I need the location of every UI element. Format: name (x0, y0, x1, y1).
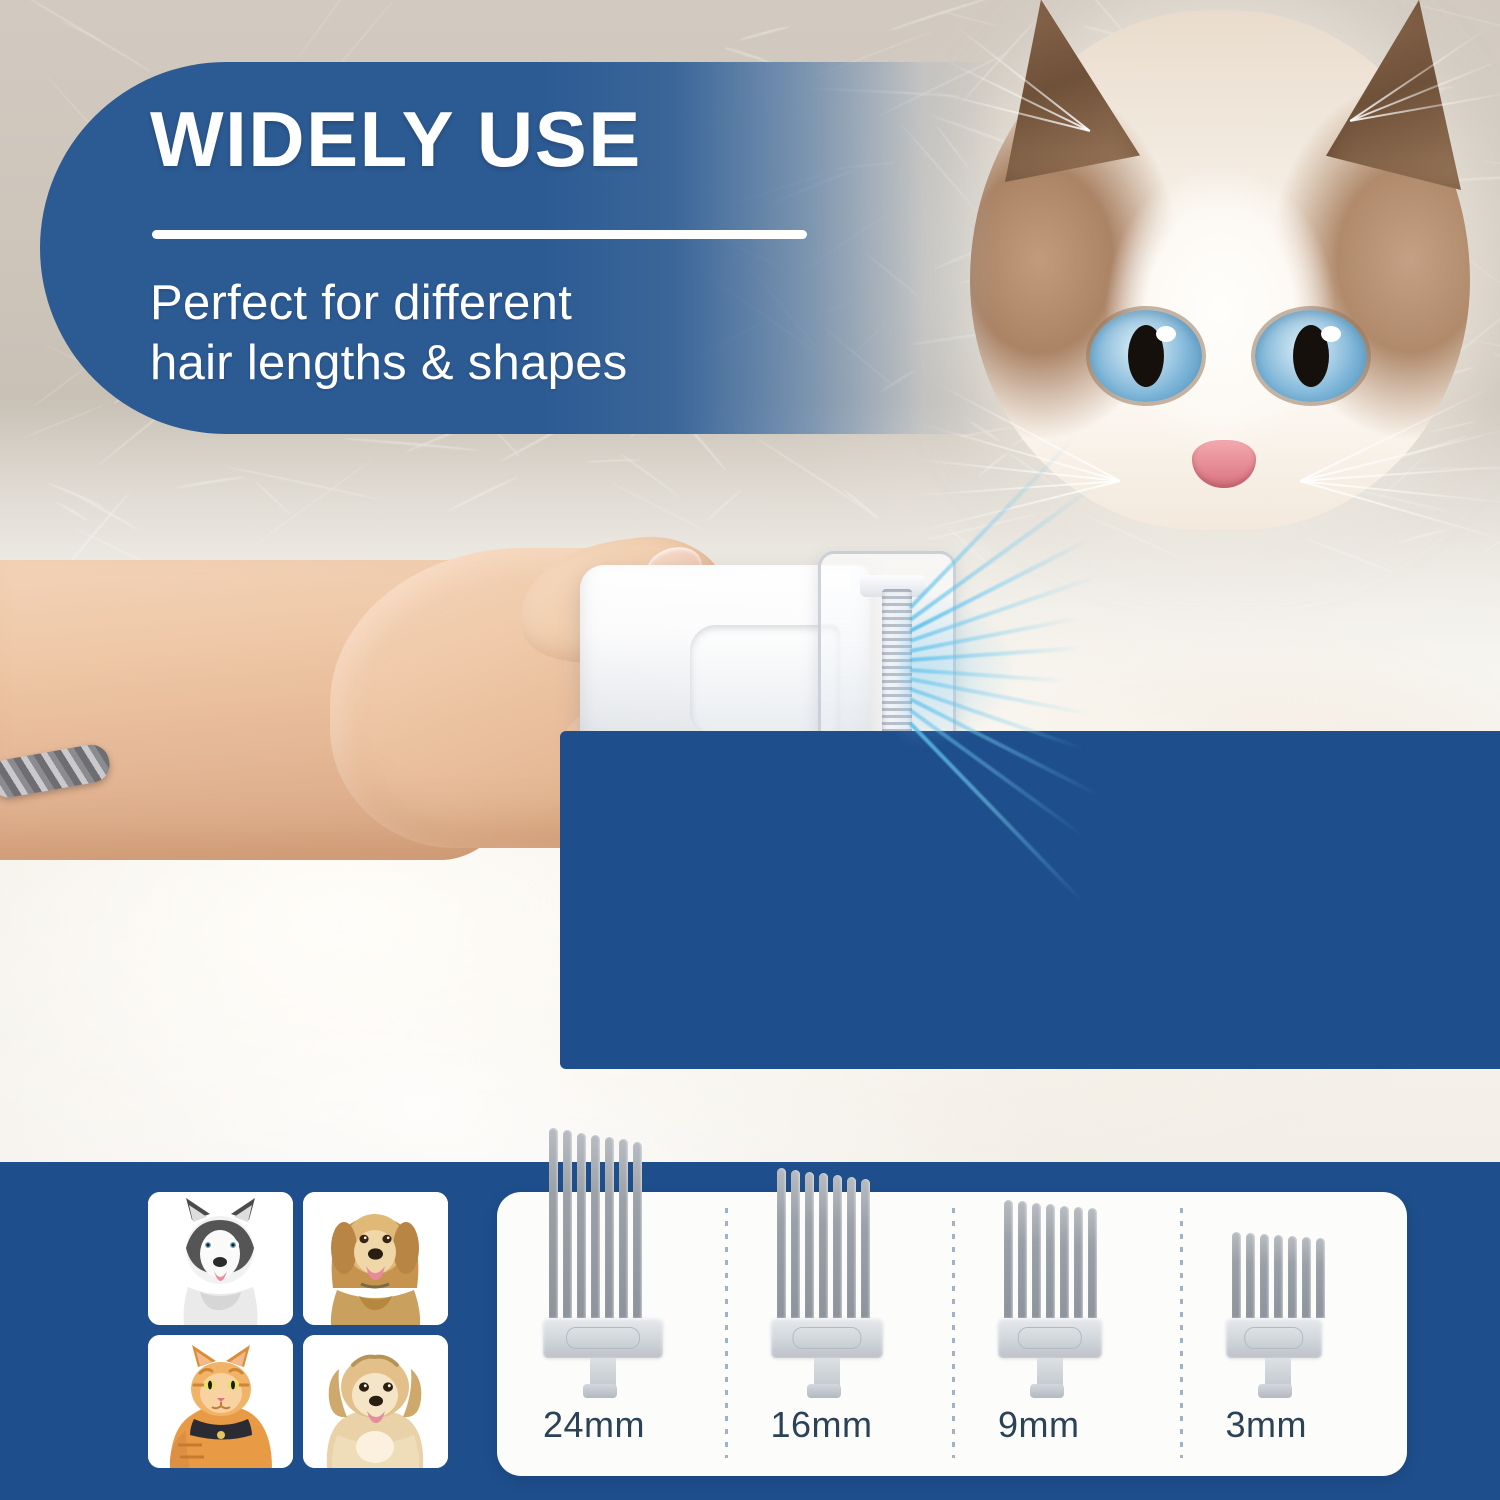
comb-tooth (605, 1137, 614, 1318)
orange-cat-photo[interactable] (148, 1335, 293, 1468)
banner-divider-rule (152, 230, 807, 239)
comb-guard-3mm (1226, 1232, 1330, 1392)
comb-tooth (1060, 1206, 1069, 1318)
guard-combs-card: 24mm 16mm 9m (497, 1192, 1407, 1476)
comb-teeth (998, 1200, 1102, 1318)
comb-tooth (1246, 1233, 1255, 1318)
banner-subtitle-line-2: hair lengths & shapes (150, 334, 628, 394)
comb-base-plate (998, 1318, 1102, 1358)
comb-tooth (1074, 1207, 1083, 1318)
hero-photo: WIDELY USE Perfect for different hair le… (0, 0, 1500, 1165)
product-marketing-image: WIDELY USE Perfect for different hair le… (0, 0, 1500, 1500)
banner-title: WIDELY USE (150, 100, 642, 178)
comb-tooth (1046, 1204, 1055, 1318)
comb-size-label: 3mm (1226, 1404, 1308, 1446)
comb-tooth (819, 1173, 828, 1318)
pet-photo-grid (148, 1192, 448, 1468)
comb-base-plate (771, 1318, 883, 1358)
banner-subtitle-line-1: Perfect for different (150, 274, 628, 334)
comb-tooth (591, 1135, 600, 1318)
comb-tooth (1004, 1200, 1013, 1318)
cat-face (970, 10, 1470, 530)
comb-tooth (833, 1175, 842, 1318)
pet-hair-clipper (560, 545, 980, 775)
comb-clip-tab (1265, 1358, 1291, 1392)
comb-teeth (1226, 1232, 1330, 1318)
comb-tooth (1232, 1232, 1241, 1318)
husky-photo[interactable] (148, 1192, 293, 1325)
comb-column-9mm[interactable]: 9mm (952, 1192, 1180, 1476)
comb-tooth (791, 1170, 800, 1318)
comb-tooth (1302, 1237, 1311, 1318)
comb-tooth (777, 1168, 786, 1318)
comb-tooth (861, 1179, 870, 1318)
comb-column-3mm[interactable]: 3mm (1180, 1192, 1408, 1476)
comb-tooth (549, 1128, 558, 1318)
clipper-blade-cap-bottom (560, 731, 1500, 1069)
comb-tooth (1018, 1201, 1027, 1318)
comb-clip-tab (814, 1358, 840, 1392)
comb-guard-9mm (998, 1200, 1102, 1392)
comb-tooth (563, 1130, 572, 1318)
comb-guard-24mm (543, 1128, 663, 1392)
cat-whiskers (970, 10, 1470, 530)
comb-tooth (1032, 1203, 1041, 1318)
comb-column-24mm[interactable]: 24mm (497, 1192, 725, 1476)
comb-size-label: 9mm (998, 1404, 1080, 1446)
comb-tooth (1274, 1235, 1283, 1318)
comb-tooth (1316, 1238, 1325, 1318)
comb-teeth (771, 1168, 883, 1318)
comb-clip-tab (590, 1358, 616, 1392)
comb-tooth (619, 1139, 628, 1318)
bottom-panel: 24mm 16mm 9m (0, 1162, 1500, 1500)
comb-size-label: 24mm (543, 1404, 645, 1446)
comb-base-plate (543, 1318, 663, 1358)
puppy-photo[interactable] (303, 1335, 448, 1468)
comb-base-plate (1226, 1318, 1322, 1358)
header-banner: WIDELY USE Perfect for different hair le… (40, 62, 1000, 434)
comb-size-label: 16mm (771, 1404, 873, 1446)
airflow-glow (900, 565, 1120, 775)
comb-tooth (633, 1142, 642, 1318)
comb-tooth (1288, 1236, 1297, 1318)
comb-tooth (577, 1133, 586, 1318)
comb-tooth (847, 1177, 856, 1318)
comb-tooth (1260, 1234, 1269, 1318)
comb-column-16mm[interactable]: 16mm (725, 1192, 953, 1476)
comb-teeth (543, 1128, 663, 1318)
comb-tooth (805, 1172, 814, 1318)
comb-guard-16mm (771, 1168, 883, 1392)
comb-tooth (1088, 1208, 1097, 1318)
golden-retriever-photo[interactable] (303, 1192, 448, 1325)
comb-clip-tab (1037, 1358, 1063, 1392)
banner-subtitle: Perfect for different hair lengths & sha… (150, 274, 628, 394)
